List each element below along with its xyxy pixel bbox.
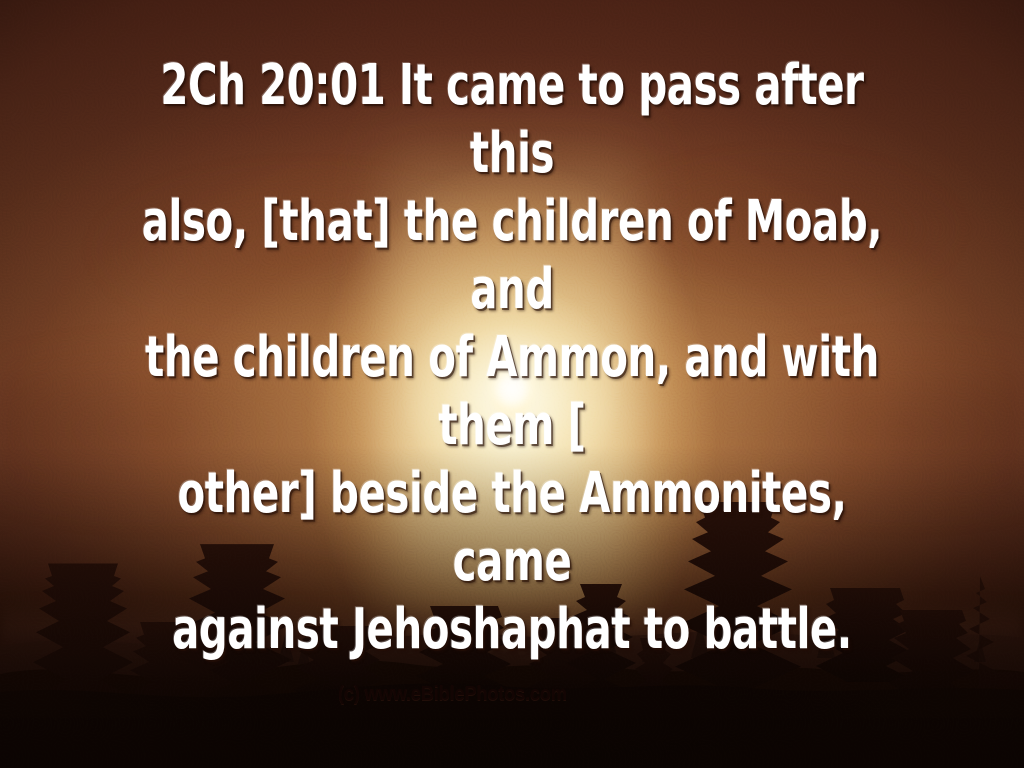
verse-text-block: 2Ch 20:01 It came to pass after this als… [0, 52, 1024, 664]
watermark-credit: (c) www.eBiblePhotos.com [338, 684, 567, 704]
scripture-photo: 2Ch 20:01 It came to pass after this als… [0, 0, 1024, 768]
verse-text: 2Ch 20:01 It came to pass after this als… [125, 52, 899, 664]
